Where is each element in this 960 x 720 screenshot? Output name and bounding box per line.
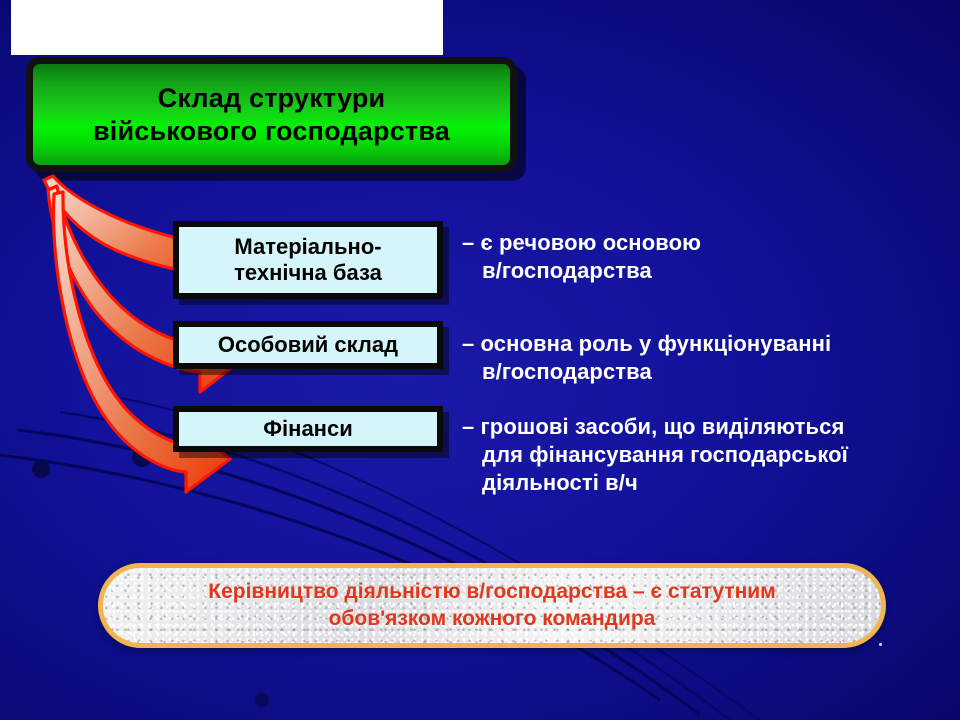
title-box: Склад структури військового господарства — [26, 57, 517, 172]
item-box-label: Матеріально- технічна база — [228, 234, 388, 287]
item-box-finances: Фінанси — [173, 406, 443, 452]
white-header-panel — [11, 0, 443, 55]
footer-callout-capsule: Керівництво діяльністю в/господарства – … — [98, 563, 886, 648]
item-box-personnel: Особовий склад — [173, 321, 443, 369]
item-description-2: – основна роль у функціонуванні в/господ… — [462, 330, 960, 386]
item-description-3: – грошові засоби, що виділяються для фін… — [462, 413, 960, 497]
item-box-label: Особовий склад — [212, 332, 404, 358]
item-description-1: – є речовою основою в/господарства — [462, 229, 952, 285]
slide-canvas: Склад структури військового господарства — [0, 0, 960, 720]
item-box-label: Фінанси — [257, 416, 358, 442]
item-box-material-technical-base: Матеріально- технічна база — [173, 221, 443, 299]
background-speck — [879, 643, 882, 646]
page-title: Склад структури військового господарства — [83, 82, 460, 148]
footer-callout-text: Керівництво діяльністю в/господарства – … — [182, 579, 801, 632]
